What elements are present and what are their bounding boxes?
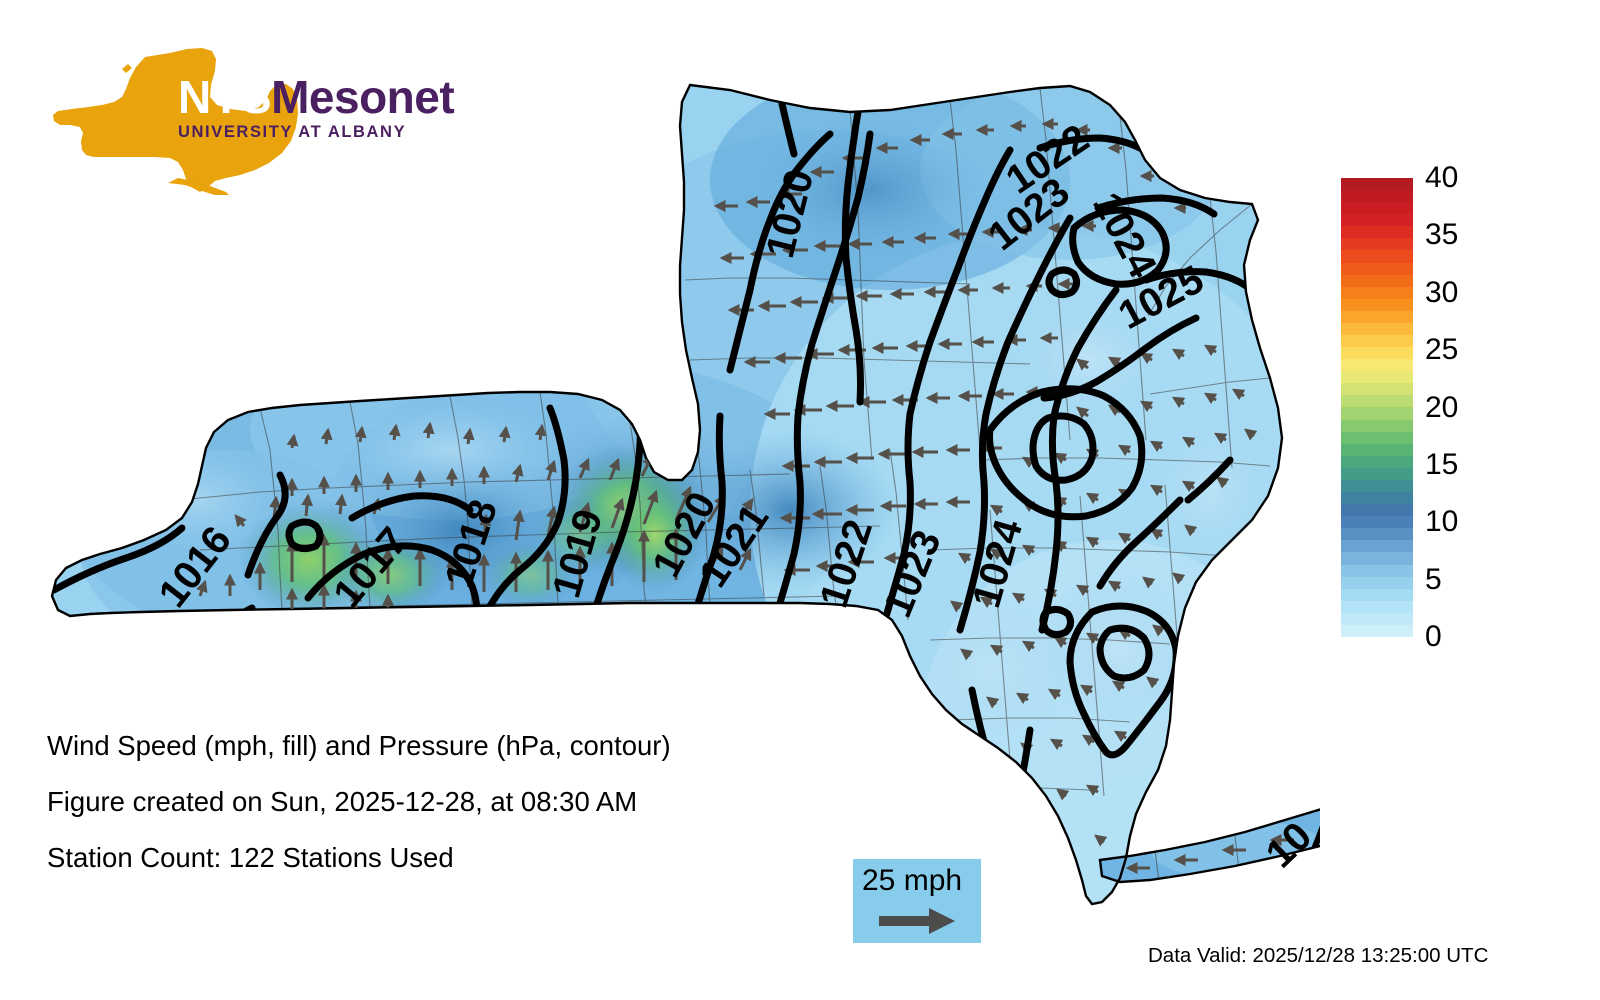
wind-speed-colorbar: 4035302520151050 (1341, 178, 1413, 637)
colorbar-band (1341, 178, 1413, 190)
colorbar-gradient (1341, 178, 1413, 637)
colorbar-band (1341, 263, 1413, 275)
colorbar-band (1341, 565, 1413, 577)
caption-title: Wind Speed (mph, fill) and Pressure (hPa… (47, 718, 827, 774)
weather-map-figure: NYSMesonet UNIVERSITY AT ALBANY (0, 0, 1600, 1000)
colorbar-band (1341, 577, 1413, 589)
colorbar-band (1341, 625, 1413, 637)
colorbar-tick-label: 5 (1425, 562, 1442, 598)
colorbar-band (1341, 613, 1413, 625)
colorbar-band (1341, 492, 1413, 504)
colorbar-band (1341, 504, 1413, 516)
colorbar-band (1341, 528, 1413, 540)
colorbar-band (1341, 432, 1413, 444)
caption-created: Figure created on Sun, 2025-12-28, at 08… (47, 774, 827, 830)
wind-legend-label: 25 mph (862, 861, 962, 901)
colorbar-band (1341, 202, 1413, 214)
colorbar-band (1341, 226, 1413, 238)
colorbar-band (1341, 601, 1413, 613)
colorbar-band (1341, 214, 1413, 226)
colorbar-band (1341, 395, 1413, 407)
colorbar-tick-label: 0 (1425, 619, 1442, 655)
colorbar-band (1341, 238, 1413, 250)
colorbar-tick-label: 35 (1425, 217, 1458, 253)
colorbar-band (1341, 383, 1413, 395)
colorbar-band (1341, 407, 1413, 419)
colorbar-band (1341, 480, 1413, 492)
colorbar-tick-label: 10 (1425, 504, 1458, 540)
colorbar-band (1341, 287, 1413, 299)
colorbar-band (1341, 456, 1413, 468)
colorbar-band (1341, 516, 1413, 528)
colorbar-band (1341, 335, 1413, 347)
colorbar-band (1341, 311, 1413, 323)
colorbar-band (1341, 371, 1413, 383)
colorbar-band (1341, 275, 1413, 287)
data-valid-timestamp: Data Valid: 2025/12/28 13:25:00 UTC (1148, 942, 1488, 970)
colorbar-band (1341, 250, 1413, 262)
wind-vector-legend: 25 mph (853, 859, 981, 943)
colorbar-band (1341, 552, 1413, 564)
colorbar-band (1341, 347, 1413, 359)
wind-arrow-icon (879, 906, 957, 936)
colorbar-band (1341, 540, 1413, 552)
colorbar-tick-label: 20 (1425, 390, 1458, 426)
colorbar-band (1341, 420, 1413, 432)
colorbar-band (1341, 190, 1413, 202)
colorbar-tick-label: 30 (1425, 275, 1458, 311)
colorbar-band (1341, 589, 1413, 601)
colorbar-tick-label: 25 (1425, 332, 1458, 368)
colorbar-band (1341, 323, 1413, 335)
colorbar-band (1341, 444, 1413, 456)
colorbar-band (1341, 468, 1413, 480)
colorbar-tick-label: 15 (1425, 447, 1458, 483)
colorbar-ticks: 4035302520151050 (1425, 160, 1505, 655)
colorbar-band (1341, 359, 1413, 371)
colorbar-band (1341, 299, 1413, 311)
caption-station-count: Station Count: 122 Stations Used (47, 830, 827, 886)
colorbar-tick-label: 40 (1425, 160, 1458, 196)
figure-caption: Wind Speed (mph, fill) and Pressure (hPa… (47, 718, 827, 886)
